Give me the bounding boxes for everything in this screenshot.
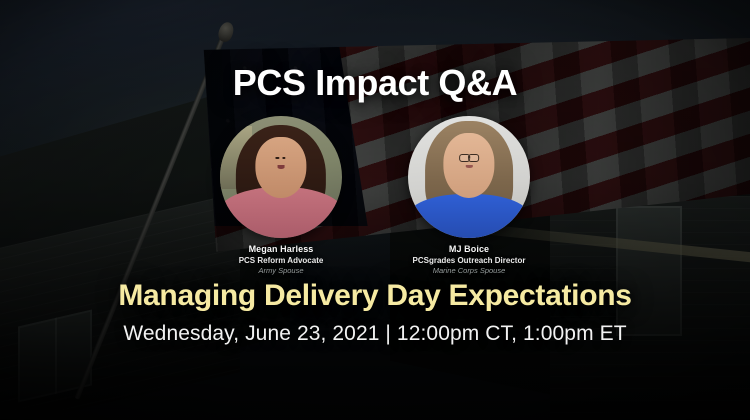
portrait-face xyxy=(255,137,306,198)
speaker-list: Megan Harless PCS Reform Advocate Army S… xyxy=(0,116,750,275)
eyeglasses-icon xyxy=(459,154,479,160)
speaker-affiliation: Marine Corps Spouse xyxy=(394,266,544,275)
speaker-role: PCS Reform Advocate xyxy=(206,256,356,265)
speaker-affiliation: Army Spouse xyxy=(206,266,356,275)
eyeglass-bridge xyxy=(468,156,470,158)
speaker-card: MJ Boice PCSgrades Outreach Director Mar… xyxy=(394,116,544,275)
portrait-eye-left xyxy=(276,157,279,159)
portrait-face xyxy=(443,133,494,198)
speaker-name: MJ Boice xyxy=(394,244,544,254)
slide-content: PCS Impact Q&A Megan Harless PCS Reform … xyxy=(0,0,750,420)
portrait-smile xyxy=(277,165,285,169)
speaker-card: Megan Harless PCS Reform Advocate Army S… xyxy=(206,116,356,275)
webinar-promo-slide: PCS Impact Q&A Megan Harless PCS Reform … xyxy=(0,0,750,420)
avatar xyxy=(220,116,342,238)
speaker-name: Megan Harless xyxy=(206,244,356,254)
page-title: PCS Impact Q&A xyxy=(0,62,750,104)
portrait-eye-right xyxy=(283,157,286,159)
session-datetime: Wednesday, June 23, 2021 | 12:00pm CT, 1… xyxy=(0,322,750,346)
portrait-smile xyxy=(465,165,472,168)
portrait-clothing xyxy=(408,194,530,238)
speaker-role: PCSgrades Outreach Director xyxy=(394,256,544,265)
session-headline: Managing Delivery Day Expectations xyxy=(0,279,750,313)
avatar xyxy=(408,116,530,238)
